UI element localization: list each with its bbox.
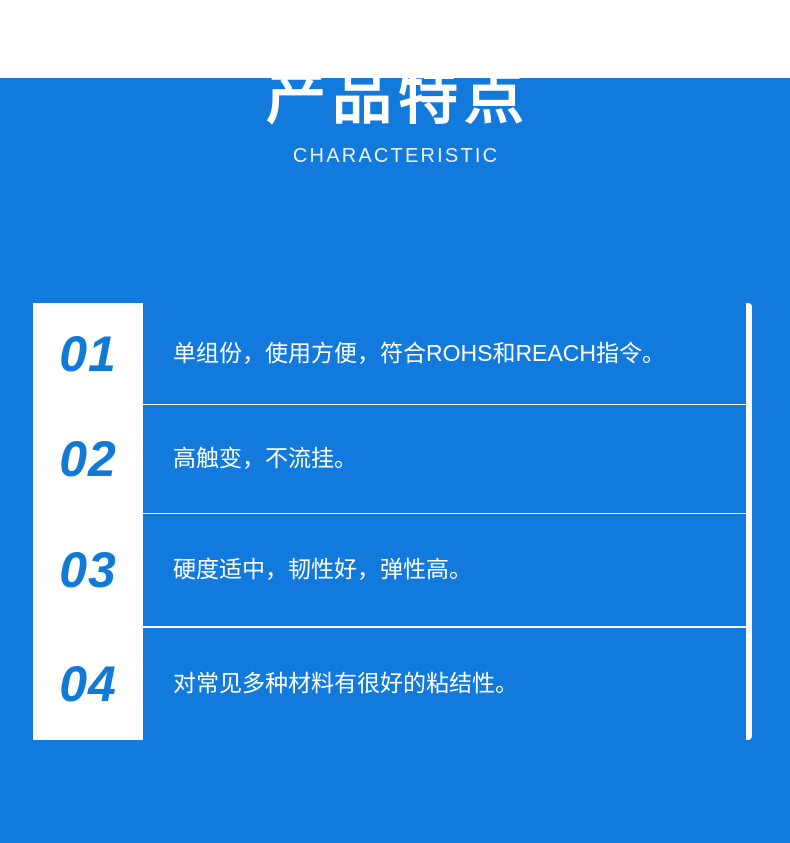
feature-row: 01 单组份，使用方便，符合ROHS和REACH指令。 [33, 303, 752, 404]
feature-row: 03 硬度适中，韧性好，弹性高。 [33, 514, 752, 626]
feature-text: 单组份，使用方便，符合ROHS和REACH指令。 [143, 303, 746, 404]
feature-row: 04 对常见多种材料有很好的粘结性。 [33, 628, 752, 740]
feature-list-card: 01 单组份，使用方便，符合ROHS和REACH指令。 02 高触变，不流挂。 … [33, 303, 752, 740]
feature-number: 04 [33, 628, 143, 740]
feature-number: 02 [33, 405, 143, 513]
page-title: 产品特点 [0, 68, 790, 128]
feature-row: 02 高触变，不流挂。 [33, 405, 752, 513]
product-characteristic-page: 产品特点 CHARACTERISTIC 01 单组份，使用方便，符合ROHS和R… [0, 0, 790, 843]
feature-text: 硬度适中，韧性好，弹性高。 [143, 514, 746, 626]
feature-text: 高触变，不流挂。 [143, 405, 746, 513]
feature-text: 对常见多种材料有很好的粘结性。 [143, 628, 746, 740]
feature-rows: 01 单组份，使用方便，符合ROHS和REACH指令。 02 高触变，不流挂。 … [33, 303, 752, 740]
page-heading: 产品特点 CHARACTERISTIC [0, 68, 790, 166]
page-subtitle: CHARACTERISTIC [0, 146, 790, 166]
feature-number: 01 [33, 303, 143, 404]
feature-number: 03 [33, 514, 143, 626]
